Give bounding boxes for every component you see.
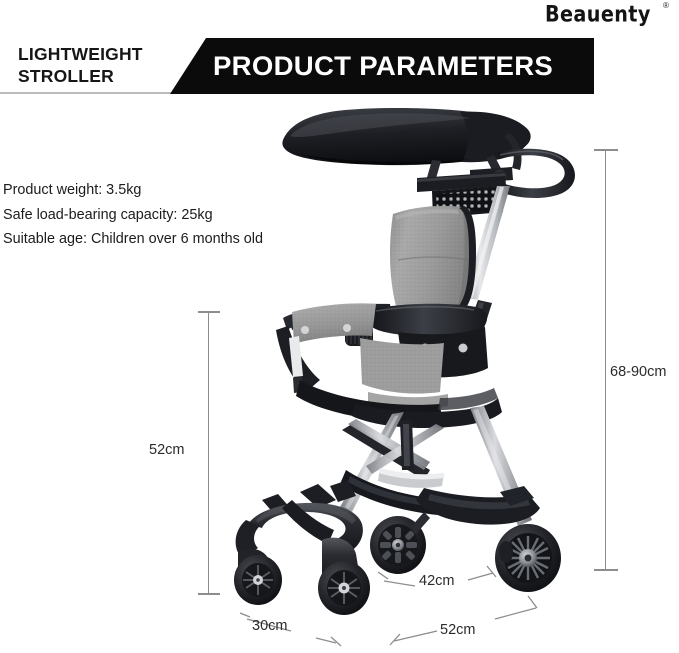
dimension-seat-height-cap-bottom	[198, 593, 220, 595]
dimension-height-line	[605, 150, 606, 570]
stroller-illustration	[0, 0, 679, 653]
seat-back	[390, 206, 476, 316]
rear-wheels	[370, 512, 561, 592]
front-caster-right	[318, 538, 370, 615]
dimension-wheelbase-label: 42cm	[419, 573, 454, 589]
dimension-height-cap-top	[594, 149, 618, 151]
dimension-height-cap-bottom	[594, 569, 618, 571]
dimension-length-label: 52cm	[440, 622, 475, 638]
front-caster-wheels	[234, 538, 370, 615]
rear-wheel-near	[495, 524, 561, 592]
front-caster-left	[234, 549, 282, 605]
dimension-seat-height-label: 52cm	[149, 442, 184, 458]
dimension-front-width-label: 30cm	[252, 618, 287, 634]
product-parameters-infographic: Beauenty ® LIGHTWEIGHT STROLLER PRODUCT …	[0, 0, 679, 653]
dimension-height-label: 68-90cm	[610, 364, 666, 380]
rear-wheel-far	[370, 512, 430, 574]
dimension-seat-height-cap-top	[198, 311, 220, 313]
dimension-seat-height-line	[208, 312, 209, 594]
